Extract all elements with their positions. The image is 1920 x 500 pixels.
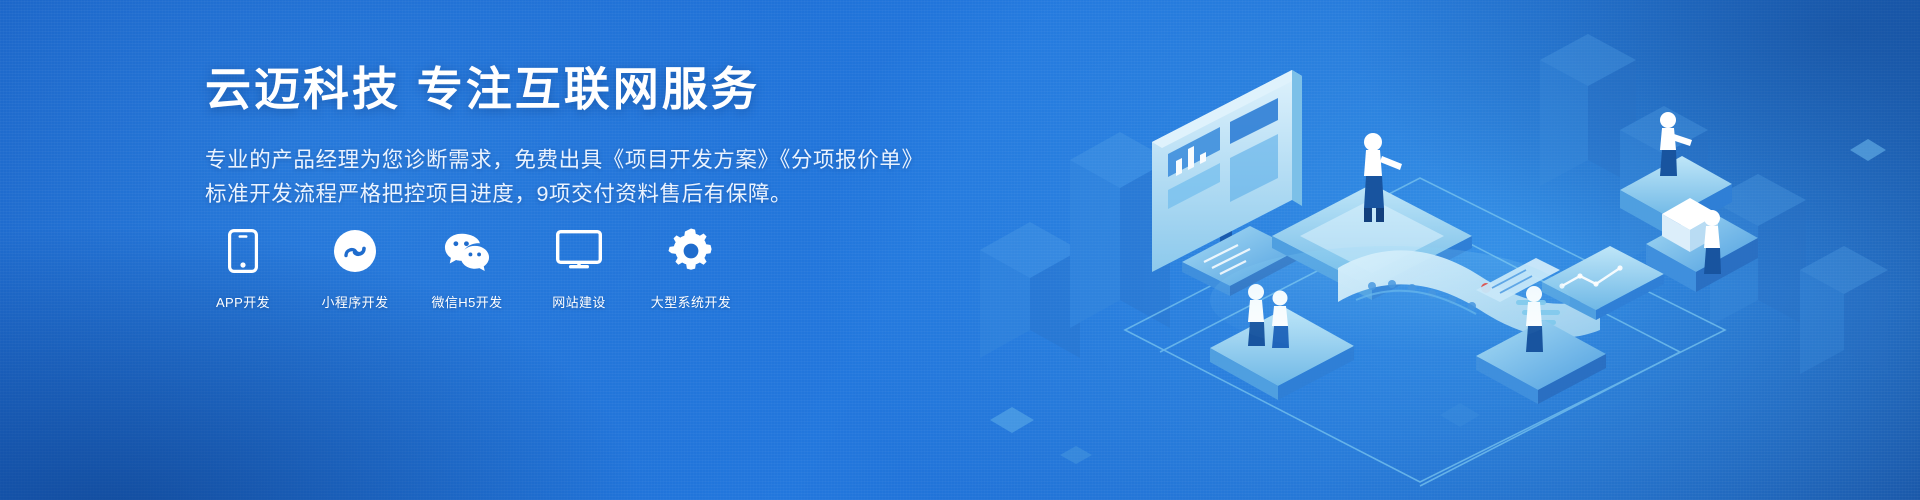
service-label: 大型系统开发 bbox=[651, 292, 731, 311]
gear-icon bbox=[668, 228, 714, 274]
service-label: APP开发 bbox=[216, 292, 270, 311]
service-item-mini-program[interactable]: 小程序开发 bbox=[317, 228, 393, 311]
service-item-website[interactable]: 网站建设 bbox=[541, 228, 617, 311]
service-item-large-system[interactable]: 大型系统开发 bbox=[653, 228, 729, 311]
page-title: 云迈科技 专注互联网服务 bbox=[205, 62, 924, 116]
mini-program-icon bbox=[332, 228, 378, 274]
subtitle-line-2: 标准开发流程严格把控项目进度，9项交付资料售后有保障。 bbox=[205, 177, 924, 211]
service-label: 小程序开发 bbox=[321, 292, 388, 311]
hero-subtitle: 专业的产品经理为您诊断需求，免费出具《项目开发方案》《分项报价单》 标准开发流程… bbox=[205, 143, 924, 211]
mobile-phone-icon bbox=[220, 228, 266, 274]
service-label: 网站建设 bbox=[552, 292, 606, 311]
hero-banner: 云迈科技 专注互联网服务 专业的产品经理为您诊断需求，免费出具《项目开发方案》《… bbox=[0, 0, 1920, 500]
monitor-icon bbox=[556, 228, 602, 274]
hero-illustration bbox=[920, 0, 1920, 500]
wechat-icon bbox=[444, 228, 490, 274]
hero-copy: 云迈科技 专注互联网服务 专业的产品经理为您诊断需求，免费出具《项目开发方案》《… bbox=[205, 62, 924, 211]
person-right bbox=[1704, 210, 1721, 274]
subtitle-line-1: 专业的产品经理为您诊断需求，免费出具《项目开发方案》《分项报价单》 bbox=[205, 143, 924, 177]
service-item-wechat-h5[interactable]: 微信H5开发 bbox=[429, 228, 505, 311]
service-item-app[interactable]: APP开发 bbox=[205, 228, 281, 311]
service-list: APP开发 小程序开发 bbox=[205, 228, 729, 311]
service-label: 微信H5开发 bbox=[431, 292, 502, 311]
